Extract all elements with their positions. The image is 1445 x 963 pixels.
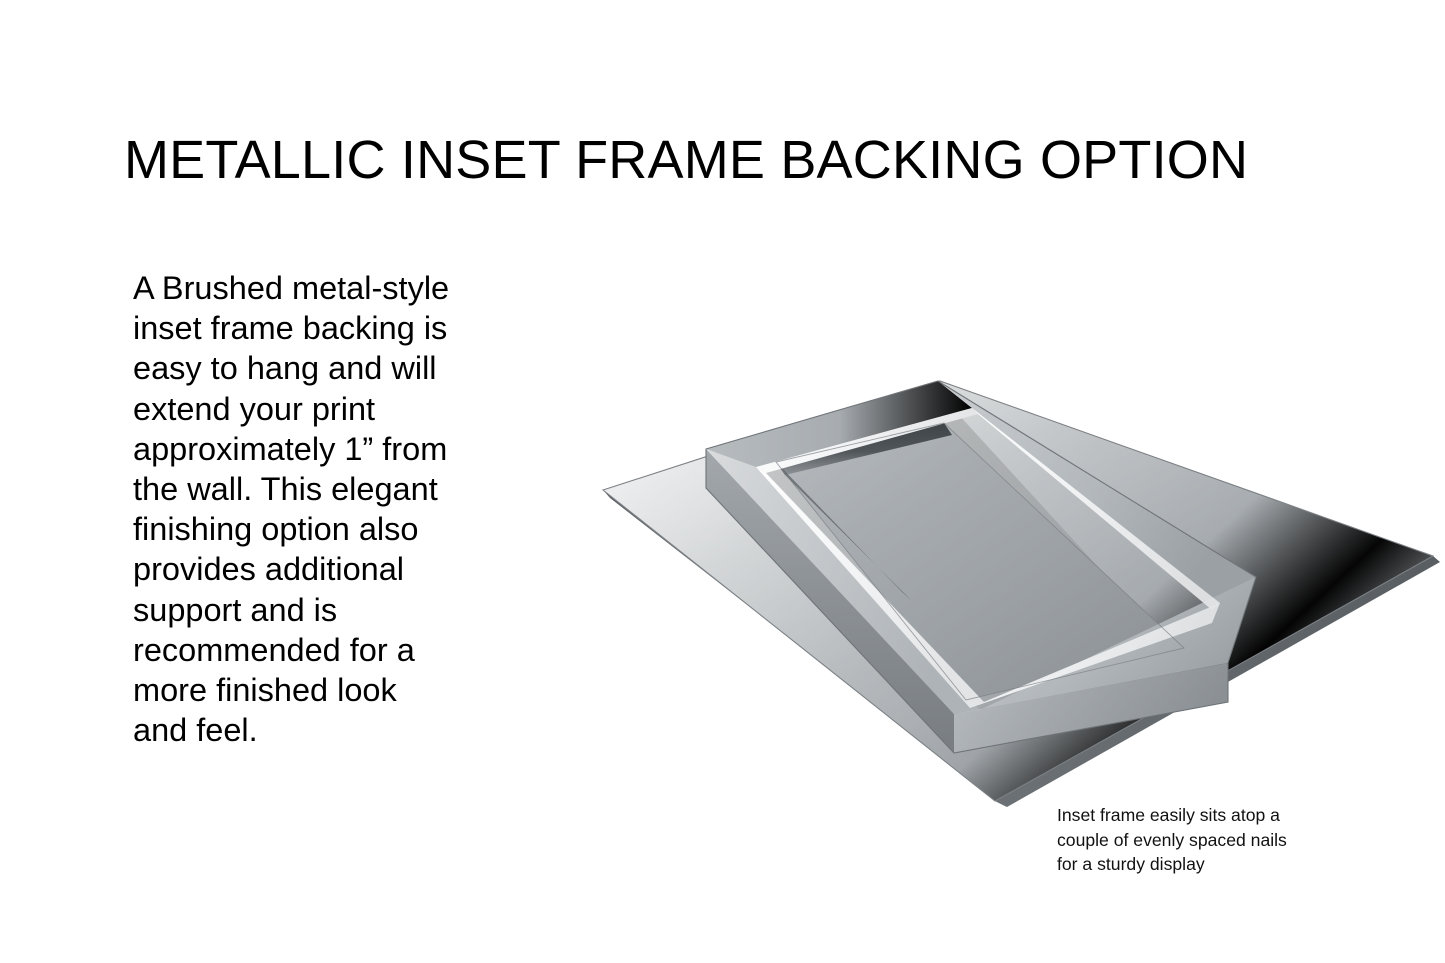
body-line: extend your print — [133, 389, 485, 429]
caption-line: for a sturdy display — [1057, 852, 1387, 877]
inset-frame-illustration — [580, 361, 1445, 821]
photo-caption: Inset frame easily sits atop a couple of… — [1057, 803, 1387, 877]
body-line: recommended for a — [133, 630, 485, 670]
body-line: approximately 1” from — [133, 429, 485, 469]
page-title: METALLIC INSET FRAME BACKING OPTION — [124, 129, 1248, 191]
body-line: and feel. — [133, 710, 485, 750]
body-line: the wall. This elegant — [133, 469, 485, 509]
product-photo-inset-frame — [580, 361, 1445, 821]
body-line: inset frame backing is — [133, 308, 485, 348]
body-line: more finished look — [133, 670, 485, 710]
caption-line: couple of evenly spaced nails — [1057, 828, 1387, 853]
body-line: support and is — [133, 590, 485, 630]
body-paragraph: A Brushed metal-style inset frame backin… — [133, 268, 485, 750]
body-line: finishing option also — [133, 509, 485, 549]
caption-line: Inset frame easily sits atop a — [1057, 803, 1387, 828]
slide-canvas: METALLIC INSET FRAME BACKING OPTION A Br… — [0, 0, 1445, 963]
body-line: A Brushed metal-style — [133, 268, 485, 308]
body-line: easy to hang and will — [133, 348, 485, 388]
body-line: provides additional — [133, 549, 485, 589]
